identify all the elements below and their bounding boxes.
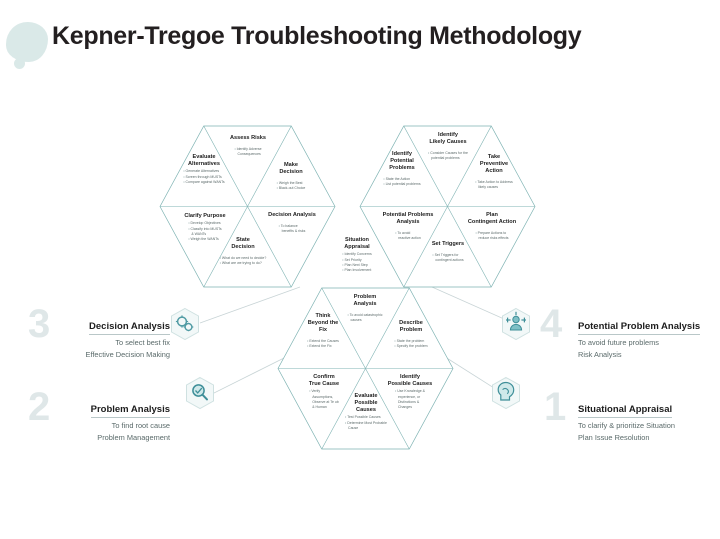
- bullet-list: Set Triggers for contingent actions: [432, 253, 463, 263]
- bullet-list: Identify Concerns Set Priority Plan Next…: [342, 252, 371, 272]
- bullet: Plan Next Step: [342, 263, 371, 268]
- segment-think-beyond-the-fix: Think Beyond the Fix Extend the Causes E…: [286, 313, 360, 352]
- segment-situation-appraisal: Situation Appraisal Identify Concerns Se…: [318, 237, 396, 276]
- decision-analysis-cluster: Assess Risks Identify Adverse Consequenc…: [160, 126, 335, 287]
- segment-take-preventive-action: Take Preventive Action Take Action to Ad…: [456, 154, 532, 193]
- bullet-list: To balance benefits & risks: [279, 224, 306, 234]
- caption-line-2: Problem Management: [10, 433, 170, 442]
- head-profile-icon: [489, 376, 523, 410]
- bullet-list: Prepare Actions to reduce risks effects: [475, 231, 508, 241]
- problem-analysis-cluster: Problem Analysis To avoid catastrophic c…: [278, 288, 453, 449]
- caption-number: 2: [28, 387, 50, 427]
- segment-state-decision: State Decision What do we need to decide…: [198, 237, 288, 269]
- caption-line-2: Effective Decision Making: [10, 350, 170, 359]
- slide-canvas: Kepner-Tregoe Troubleshooting Methodolog…: [0, 0, 720, 539]
- caption-line-1: To clarify & prioritize Situation: [578, 421, 720, 430]
- bullet-list: Generate Alternatives Screen through MUS…: [183, 169, 224, 184]
- bullet-list: To avoid reactive action: [395, 231, 421, 241]
- caption-title: Decision Analysis: [89, 321, 170, 335]
- caption-number: 3: [28, 304, 50, 344]
- segment-set-triggers: Set Triggers Set Triggers for contingent…: [405, 241, 491, 266]
- segment-plan-contingent-action: Plan Contingent Action Prepare Actions t…: [450, 212, 534, 244]
- bullet-list: State the problem Specify the problem: [394, 339, 427, 349]
- segment-evaluate-possible-causes: Evaluate Possible Causes Test Possible C…: [322, 393, 410, 434]
- caption-number: 4: [540, 304, 562, 344]
- bullet: Plan Involvement: [342, 268, 371, 273]
- segment-decision-analysis: Decision Analysis To balance benefits & …: [252, 212, 332, 237]
- magnifier-icon: [183, 376, 217, 410]
- caption-title: Problem Analysis: [91, 404, 170, 418]
- caption-line-2: Risk Analysis: [578, 350, 720, 359]
- bullet-list: What do we need to decide? What are we t…: [220, 256, 267, 266]
- gears-icon: [168, 307, 202, 341]
- segment-make-decision: Make Decision Weigh the Best Black-out C…: [255, 162, 327, 194]
- bullet-list: Test Possible Causes Determine Most Prob…: [345, 415, 387, 430]
- caption-title: Potential Problem Analysis: [578, 321, 700, 335]
- segment-identify-potential-problems: Identify Potential Problems State the Ac…: [364, 151, 440, 190]
- bullet-list: Take Action to Address likely causes: [475, 180, 513, 190]
- bullet: Identify Concerns: [342, 252, 371, 257]
- bullet-list: State the Action List potential problems: [383, 177, 420, 187]
- person-network-icon: [499, 307, 533, 341]
- caption-title: Situational Appraisal: [578, 404, 672, 418]
- caption-number: 1: [544, 387, 566, 427]
- segment-evaluate-alternatives: Evaluate Alternatives Generate Alternati…: [165, 154, 243, 188]
- caption-potential-problem-analysis: 4 Potential Problem Analysis To avoid fu…: [578, 316, 720, 359]
- caption-line-1: To avoid future problems: [578, 338, 720, 347]
- caption-line-2: Plan Issue Resolution: [578, 433, 720, 442]
- situation-appraisal-heading: Situation Appraisal: [318, 237, 396, 251]
- caption-situational-appraisal: 1 Situational Appraisal To clarify & pri…: [578, 399, 720, 442]
- caption-problem-analysis: 2 Problem Analysis To find root cause Pr…: [10, 399, 170, 442]
- caption-decision-analysis: 3 Decision Analysis To select best fix E…: [10, 316, 170, 359]
- segment-describe-problem: Describe Problem State the problem Speci…: [374, 320, 448, 352]
- bullet-list: Extend the Causes Extend the Fix: [307, 339, 339, 349]
- bullet-list: Weigh the Best Black-out Choice: [277, 181, 306, 191]
